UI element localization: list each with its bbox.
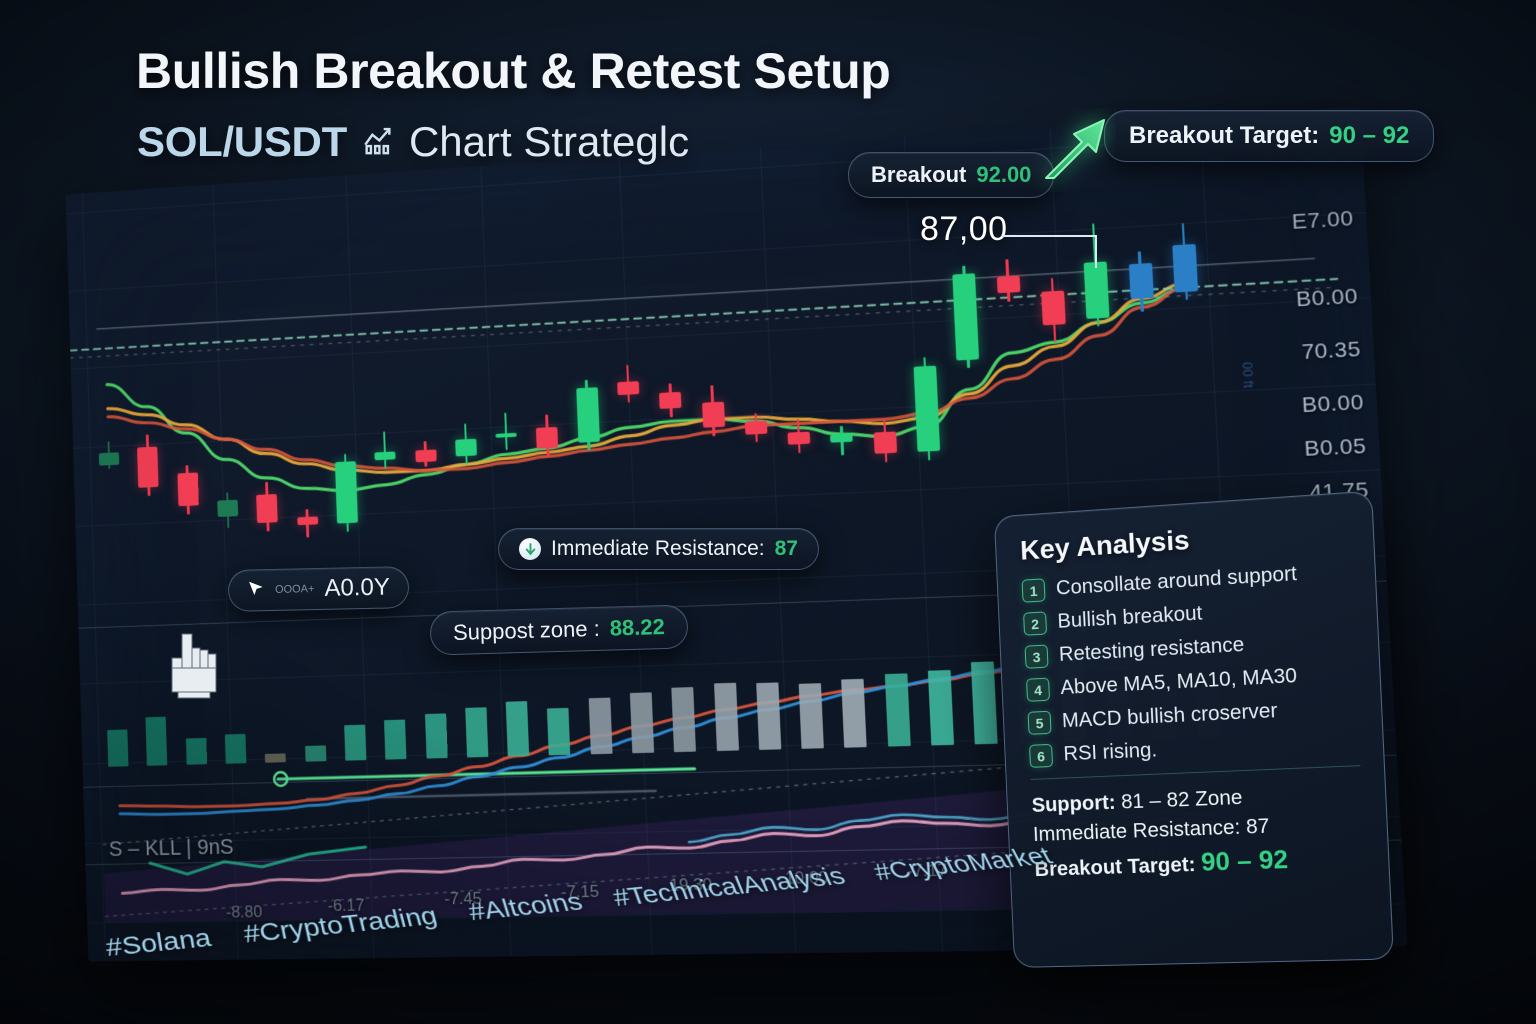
candlestick [1128, 251, 1154, 313]
support-zone-value: 88.22 [609, 614, 665, 642]
volume-bar [186, 738, 207, 765]
volume-bar [588, 697, 612, 754]
summary-value-support: 81 – 82 Zone [1121, 786, 1243, 813]
candlestick [787, 419, 811, 454]
ma-pill-small-text: OOOA+ [275, 583, 315, 596]
candle-body [873, 432, 896, 454]
immediate-resistance-value: 87 [775, 537, 798, 561]
candle-body [415, 449, 436, 462]
key-analysis-item[interactable]: 5 MACD bullish croserver [1028, 696, 1359, 735]
volume-bar [424, 713, 447, 759]
candlestick [1040, 277, 1066, 343]
ma-value-pill[interactable]: OOOA+ A0.0Y [228, 566, 410, 612]
summary-value-target: 90 – 92 [1200, 845, 1288, 877]
volume-bar [547, 708, 570, 756]
item-badge-4: 4 [1026, 678, 1050, 702]
candle-body [256, 494, 278, 523]
hand-pointer-cursor [160, 628, 226, 702]
candlestick [1171, 222, 1198, 301]
up-right-arrow-icon [1032, 108, 1116, 197]
volume-bar [756, 683, 781, 750]
item-text-1: Consollate around support [1056, 563, 1298, 601]
candle-body [217, 500, 238, 517]
key-analysis-title: Key Analysis [1020, 514, 1350, 567]
ma10-line [106, 283, 1194, 485]
candle-body [177, 473, 198, 506]
panel-divider [1031, 765, 1361, 780]
candle-body [137, 447, 158, 488]
item-text-6: RSI rising. [1063, 739, 1158, 766]
candle-body [576, 387, 600, 442]
breakout-pill-label: Breakout [871, 162, 966, 188]
indicator-label: S – KLL | 9nS [109, 834, 235, 862]
price-axis-label: 70.35 [1301, 338, 1361, 366]
volume-bar [842, 678, 868, 747]
item-text-2: Bullish breakout [1057, 602, 1203, 634]
volume-bar [107, 729, 128, 767]
candle-body [914, 366, 941, 452]
price-axis-label: B0.05 [1304, 434, 1367, 462]
item-badge-3: 3 [1025, 644, 1049, 668]
candlestick [576, 379, 600, 451]
candle-body [788, 431, 811, 445]
subtitle-text: Chart Strateglc [409, 118, 689, 166]
candlestick [217, 491, 239, 529]
breakout-pill[interactable]: Breakout 92.00 [848, 152, 1054, 198]
candlestick [256, 482, 278, 532]
candlestick [659, 383, 682, 418]
volume-bar [714, 682, 739, 751]
volume-bar [971, 661, 998, 744]
candle-wick [504, 413, 508, 450]
ma-pill-label: A0.0Y [324, 574, 390, 603]
page-title: Bullish Breakout & Retest Setup [136, 42, 890, 100]
candle-wick [383, 431, 387, 468]
candle-body [375, 451, 396, 460]
price-callout-leader [1000, 222, 1120, 272]
candlestick [177, 465, 199, 515]
item-text-5: MACD bullish croserver [1062, 700, 1278, 734]
candle-body [297, 517, 318, 526]
candle-body [1172, 244, 1198, 293]
volume-bar [928, 670, 954, 745]
candle-body [745, 421, 768, 435]
key-analysis-item[interactable]: 3 Retesting resistance [1025, 627, 1355, 668]
page-subtitle: SOL/USDT Chart Strateglc [137, 118, 689, 166]
price-axis-label: E7.00 [1291, 206, 1354, 235]
candle-body [335, 461, 358, 523]
candlestick [137, 434, 159, 496]
volume-bar [344, 724, 366, 760]
volume-bar [384, 719, 406, 759]
candle-body [831, 434, 854, 444]
candle-body [99, 452, 119, 465]
candlestick [99, 440, 120, 469]
volume-bar [630, 692, 654, 753]
summary-value-resistance: 87 [1246, 815, 1270, 838]
volume-bar [885, 673, 911, 746]
infographic-root: E7.00B0.0070.35B0.00B0.0541.75-8.80-6.17… [0, 0, 1536, 1024]
support-zone-pill[interactable]: Suppost zone : 88.22 [429, 604, 688, 655]
item-badge-6: 6 [1029, 744, 1053, 768]
item-text-3: Retesting resistance [1059, 634, 1245, 667]
candle-body [996, 275, 1020, 293]
item-badge-1: 1 [1022, 578, 1046, 602]
price-axis-label: B0.00 [1301, 390, 1364, 418]
volume-bar [265, 753, 286, 762]
candle-body [659, 391, 681, 409]
item-text-4: Above MA5, MA10, MA30 [1060, 665, 1297, 700]
price-callout: 87,00 [920, 210, 1008, 249]
key-analysis-summary: Support: 81 – 82 Zone Immediate Resistan… [1031, 779, 1365, 887]
volume-bar [506, 701, 529, 756]
candle-body [1041, 290, 1066, 326]
key-analysis-item[interactable]: 6 RSI rising. [1029, 730, 1360, 768]
candlestick [913, 357, 940, 460]
volume-bar [672, 687, 697, 752]
candlestick [374, 431, 396, 469]
candle-body [536, 427, 558, 449]
down-arrow-circle-icon [519, 538, 541, 560]
cursor-arrow-icon [247, 576, 266, 604]
candlestick [335, 453, 359, 532]
candle-body [455, 439, 477, 457]
candlestick [616, 364, 639, 403]
support-zone-label: Suppost zone : [453, 616, 600, 646]
summary-label-support: Support: [1031, 792, 1116, 817]
candle-body [702, 402, 725, 428]
candle-body [953, 274, 980, 360]
item-badge-5: 5 [1028, 711, 1052, 735]
volume-bar [146, 717, 168, 766]
volume-bar [799, 683, 824, 748]
candlestick [744, 412, 767, 443]
volume-bar [225, 734, 247, 764]
key-analysis-item[interactable]: 4 Above MA5, MA10, MA30 [1026, 662, 1357, 702]
candle-body [617, 381, 639, 395]
candle-body [1128, 263, 1153, 299]
immediate-resistance-pill[interactable]: Immediate Resistance: 87 [498, 528, 819, 570]
trading-pair-label: SOL/USDT [137, 118, 347, 166]
immediate-resistance-label: Immediate Resistance: [551, 537, 765, 561]
candlestick [454, 423, 477, 465]
candlestick [297, 508, 319, 538]
candlestick [873, 419, 897, 463]
breakout-target-pill[interactable]: Breakout Target: 90 – 92 [1104, 110, 1434, 162]
candlestick [536, 414, 559, 457]
volume-bar [305, 745, 326, 762]
volume-bar [465, 707, 488, 757]
price-axis-label: B0.00 [1296, 284, 1359, 312]
candlestick [495, 412, 518, 450]
candlestick-chart-icon [361, 122, 395, 162]
candlestick [415, 441, 437, 467]
candlestick [701, 385, 725, 436]
key-analysis-panel: Key Analysis 1 Consollate around support… [994, 490, 1394, 968]
candlestick [830, 425, 854, 456]
breakout-pill-value: 92.00 [976, 162, 1031, 188]
item-badge-2: 2 [1023, 611, 1047, 635]
side-marker-label: 00 ft [1239, 361, 1256, 388]
breakout-target-value: 90 – 92 [1329, 122, 1409, 150]
breakout-target-label: Breakout Target: [1129, 122, 1319, 150]
